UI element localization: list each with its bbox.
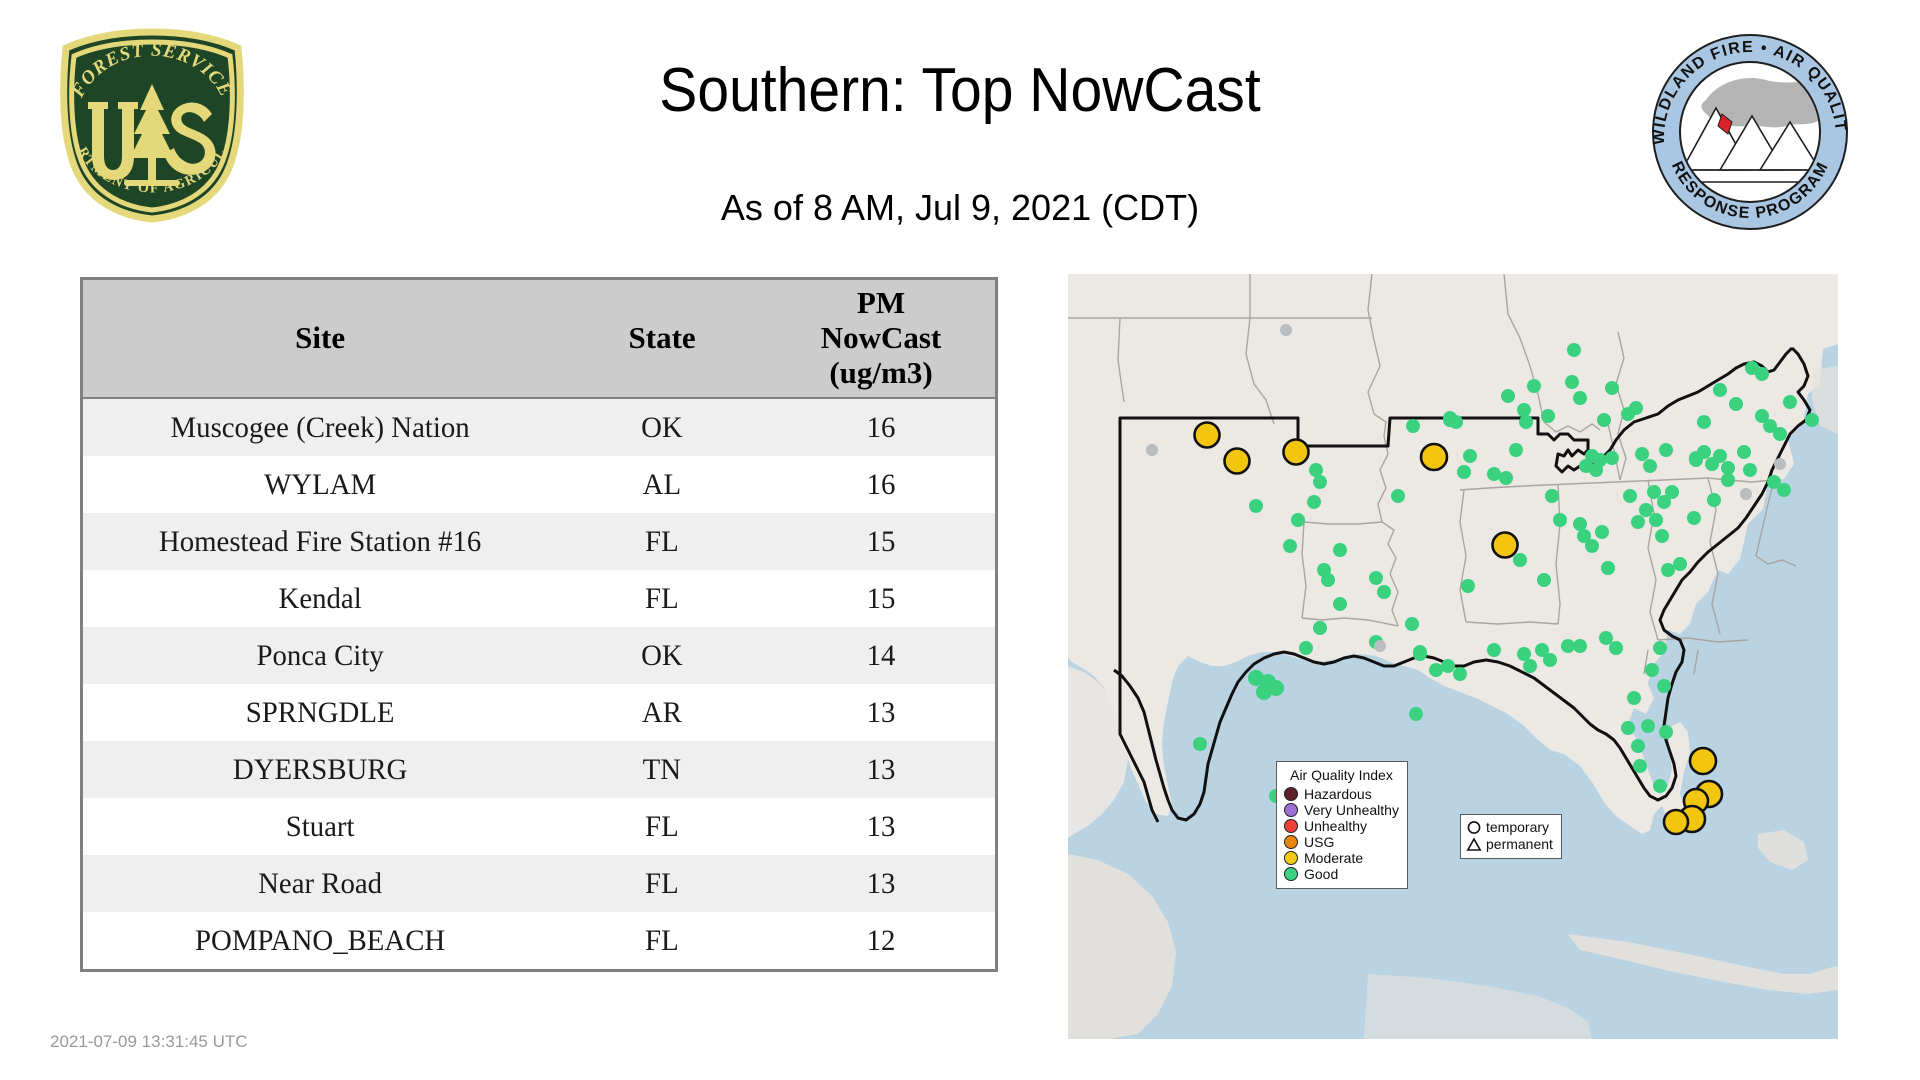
site-cell: Near Road [92,855,547,912]
monitor-site-good [1585,539,1599,553]
monitor-site-moderate-muscogee [1225,449,1250,474]
monitor-site-good [1457,465,1471,479]
monitor-site-good [1249,499,1263,513]
monitor-site-good [1643,459,1657,473]
state-cell: AR [561,684,762,741]
pm-nowcast-cell: 13 [772,741,991,798]
table-header-row: Site State PM NowCast (ug/m3) [83,280,995,398]
monitor-site-good [1601,561,1615,575]
monitor-site-good [1333,543,1347,557]
monitor-site-good [1283,539,1297,553]
monitor-site-good [1499,471,1513,485]
monitor-site-good [1307,495,1321,509]
table-row: Muscogee (Creek) NationOK16 [83,398,995,456]
top-nowcast-table: Site State PM NowCast (ug/m3) Muscogee (… [83,280,995,969]
monitor-site-good [1721,473,1735,487]
monitor-site-good [1599,631,1613,645]
monitor-site-moderate-wylam [1493,533,1518,558]
aqi-legend-rows: HazardousVery UnhealthyUnhealthyUSGModer… [1284,786,1399,882]
generated-timestamp: 2021-07-09 13:31:45 UTC [50,1032,248,1052]
monitor-site-good [1653,641,1667,655]
monitor-site-good [1697,415,1711,429]
pm-nowcast-cell: 15 [772,513,991,570]
monitor-site-good [1657,679,1671,693]
monitor-site-moderate-stuart [1690,748,1716,774]
monitor-site-good [1707,493,1721,507]
monitor-site-good [1665,485,1679,499]
aqi-legend-item: Moderate [1284,850,1399,866]
aqi-legend-item: Very Unhealthy [1284,802,1399,818]
map-canvas [1068,274,1838,1039]
monitor-site-good [1653,779,1667,793]
pm-header-line-3: (ug/m3) [767,356,995,391]
column-header-site: Site [83,280,557,398]
table-row: DYERSBURGTN13 [83,741,995,798]
monitor-site-good [1517,403,1531,417]
aqi-legend-item: Good [1284,866,1399,882]
pm-nowcast-cell: 13 [772,855,991,912]
pm-nowcast-cell: 14 [772,627,991,684]
monitor-site-good [1268,680,1284,696]
monitor-site-good [1519,415,1533,429]
site-cell: WYLAM [92,456,547,513]
column-header-pm-nowcast: PM NowCast (ug/m3) [767,280,995,398]
aqi-legend-label: Moderate [1304,851,1363,865]
monitor-site-good [1647,485,1661,499]
page-subtitle: As of 8 AM, Jul 9, 2021 (CDT) [0,187,1920,229]
monitor-site-good [1369,571,1383,585]
monitor-site-good [1687,511,1701,525]
monitor-site-nodata [1740,488,1752,500]
monitor-site-good [1737,445,1751,459]
table-row: WYLAMAL16 [83,456,995,513]
monitor-site-good [1441,659,1455,673]
site-cell: Stuart [92,798,547,855]
monitor-site-good [1627,691,1641,705]
site-cell: SPRNGDLE [92,684,547,741]
monitor-site-nodata [1146,444,1158,456]
state-cell: TN [561,741,762,798]
aqi-legend-label: Hazardous [1304,787,1372,801]
table-row: KendalFL15 [83,570,995,627]
monitor-site-good [1567,343,1581,357]
column-header-state: State [557,280,767,398]
table-row: Near RoadFL13 [83,855,995,912]
table-row: Homestead Fire Station #16FL15 [83,513,995,570]
pm-nowcast-cell: 16 [772,398,991,456]
monitor-site-good [1659,443,1673,457]
aqi-legend-color-dot [1284,867,1298,881]
monitor-site-good [1633,759,1647,773]
table-body: Muscogee (Creek) NationOK16WYLAMAL16Home… [83,398,995,969]
monitor-site-good [1405,617,1419,631]
table-row: SPRNGDLEAR13 [83,684,995,741]
monitor-site-good [1487,467,1501,481]
monitor-site-good [1573,391,1587,405]
monitor-site-nodata [1774,458,1786,470]
monitor-site-good [1605,381,1619,395]
page-header: FOREST SERVICE DEPARTMENT OF AGRICULTURE… [0,0,1920,230]
monitor-site-good [1661,563,1675,577]
monitor-site-good [1783,395,1797,409]
monitor-site-good [1299,641,1313,655]
page-title: Southern: Top NowCast [77,55,1843,126]
monitor-site-good [1631,515,1645,529]
table-row: POMPANO_BEACHFL12 [83,912,995,969]
monitor-site-moderate-ponca-city [1195,423,1220,448]
state-cell: FL [561,513,762,570]
pm-nowcast-cell: 16 [772,456,991,513]
monitor-site-good [1721,461,1735,475]
monitor-site-good [1406,419,1420,433]
aqi-legend-color-dot [1284,835,1298,849]
state-cell: FL [561,570,762,627]
monitor-site-good [1391,489,1405,503]
monitor-site-good [1523,659,1537,673]
state-cell: FL [561,798,762,855]
aqi-legend-color-dot [1284,787,1298,801]
monitor-site-good [1745,361,1759,375]
monitor-site-good [1487,643,1501,657]
monitor-site-good [1805,413,1819,427]
monitor-site-good [1321,573,1335,587]
monitor-site-good [1527,379,1541,393]
state-cell: FL [561,855,762,912]
monitor-site-good [1513,553,1527,567]
site-type-legend-item-permanent: permanent [1466,836,1553,853]
monitor-site-good [1621,721,1635,735]
monitor-site-good [1461,579,1475,593]
aqi-legend-label: Good [1304,867,1338,881]
monitor-site-good [1631,739,1645,753]
monitor-site-good [1635,447,1649,461]
aqi-legend-color-dot [1284,819,1298,833]
monitor-site-good [1605,451,1619,465]
monitor-site-good [1193,737,1207,751]
monitor-site-good [1673,557,1687,571]
monitor-site-good [1609,641,1623,655]
monitor-site-good [1333,597,1347,611]
aqi-legend: Air Quality Index HazardousVery Unhealth… [1276,761,1408,889]
monitor-site-good [1561,639,1575,653]
aqi-legend-item: Unhealthy [1284,818,1399,834]
monitor-site-good [1463,449,1477,463]
air-quality-map[interactable]: Air Quality Index HazardousVery Unhealth… [1068,274,1838,1039]
monitor-site-good [1409,707,1423,721]
site-cell: DYERSBURG [92,741,547,798]
monitor-site-nodata [1374,640,1386,652]
monitor-site-good [1589,463,1603,477]
site-cell: Kendal [92,570,547,627]
monitor-site-good [1309,463,1323,477]
site-type-legend-item-temporary: temporary [1466,819,1553,836]
monitor-site-good [1729,397,1743,411]
monitor-site-good [1659,725,1673,739]
monitor-site-good [1291,513,1305,527]
monitor-site-good [1573,639,1587,653]
monitor-site-good [1313,475,1327,489]
monitor-site-good [1645,663,1659,677]
monitor-site-good [1545,489,1559,503]
site-type-label-temporary: temporary [1486,820,1549,835]
site-type-label-permanent: permanent [1486,837,1553,852]
monitor-site-good [1713,383,1727,397]
monitor-site-good [1597,413,1611,427]
monitor-site-moderate-kendal [1664,810,1688,834]
monitor-site-moderate-dyersburg [1421,444,1447,470]
monitor-site-good [1649,513,1663,527]
pm-nowcast-cell: 13 [772,684,991,741]
state-cell: OK [561,627,762,684]
pm-nowcast-cell: 13 [772,798,991,855]
aqi-legend-label: USG [1304,835,1334,849]
monitor-site-good [1541,409,1555,423]
monitor-site-good [1689,451,1703,465]
pm-header-line-1: PM [767,286,995,321]
state-cell: OK [561,398,762,456]
site-cell: Muscogee (Creek) Nation [92,398,547,456]
monitor-site-good [1767,475,1781,489]
aqi-legend-title: Air Quality Index [1284,767,1399,783]
wildland-fire-air-quality-response-program-seal-icon: WILDLAND FIRE • AIR QUALITY RESPONSE PRO… [1648,30,1853,235]
state-cell: FL [561,912,762,969]
monitor-site-moderate-sprngdle [1284,440,1309,465]
aqi-legend-item: Hazardous [1284,786,1399,802]
triangle-icon [1466,837,1482,852]
table-row: Ponca CityOK14 [83,627,995,684]
table-row: StuartFL13 [83,798,995,855]
pm-nowcast-cell: 15 [772,570,991,627]
monitor-site-good [1743,463,1757,477]
aqi-legend-color-dot [1284,851,1298,865]
monitor-site-nodata [1280,324,1292,336]
aqi-legend-label: Very Unhealthy [1304,803,1399,817]
monitor-site-good [1641,719,1655,733]
aqi-legend-label: Unhealthy [1304,819,1367,833]
monitor-site-good [1573,517,1587,531]
monitor-site-good [1565,375,1579,389]
pm-nowcast-cell: 12 [772,912,991,969]
monitor-site-good [1313,621,1327,635]
circle-icon [1466,820,1482,835]
monitor-site-good [1535,643,1549,657]
pm-header-line-2: NowCast [767,321,995,356]
monitor-site-good [1537,573,1551,587]
monitor-site-good [1501,389,1515,403]
monitor-site-good [1773,427,1787,441]
state-cell: AL [561,456,762,513]
monitor-site-good [1595,525,1609,539]
aqi-legend-item: USG [1284,834,1399,850]
monitor-site-good [1713,449,1727,463]
aqi-legend-color-dot [1284,803,1298,817]
monitor-site-good [1623,489,1637,503]
site-cell: Ponca City [92,627,547,684]
monitor-site-good [1449,415,1463,429]
monitor-site-good [1453,667,1467,681]
monitor-site-good [1509,443,1523,457]
table-head: Site State PM NowCast (ug/m3) [83,280,995,398]
monitor-site-good [1517,647,1531,661]
site-type-legend: temporary permanent [1460,814,1562,859]
monitor-site-good [1429,663,1443,677]
monitor-site-good [1639,503,1653,517]
monitor-site-good [1377,585,1391,599]
site-cell: Homestead Fire Station #16 [92,513,547,570]
monitor-site-good [1413,647,1427,661]
monitor-site-good [1553,513,1567,527]
monitor-site-good [1655,529,1669,543]
site-cell: POMPANO_BEACH [92,912,547,969]
top-nowcast-table-container: Site State PM NowCast (ug/m3) Muscogee (… [80,277,998,972]
monitor-site-good [1629,401,1643,415]
